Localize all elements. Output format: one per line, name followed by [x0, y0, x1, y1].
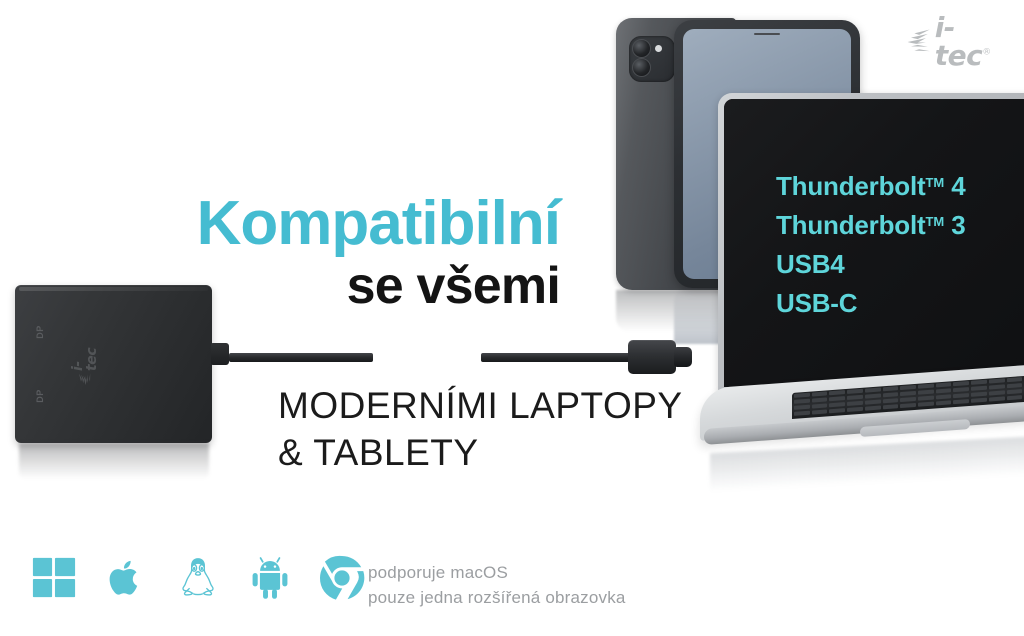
- keyboard-key: [971, 398, 987, 403]
- trademark-mark: TM: [925, 214, 944, 229]
- dock-cable-strain-relief: [211, 343, 229, 365]
- subheadline: MODERNÍMI LAPTOPY & TABLETY: [278, 382, 738, 477]
- usb-c-connector: [628, 340, 690, 374]
- keyboard-key: [812, 409, 828, 414]
- laptop-device: ThunderboltTM 4 ThunderboltTM 3 USB4 USB…: [700, 93, 1024, 493]
- spec-item-thunderbolt-4: ThunderboltTM 4: [776, 173, 966, 199]
- dock-port-label-dp-1: DP: [35, 325, 45, 339]
- spec-item-usb4: USB4: [776, 251, 966, 277]
- keyboard-key: [900, 403, 916, 408]
- tablet-speaker-icon: [754, 33, 780, 35]
- registered-mark-icon: ®: [982, 48, 991, 58]
- windows-icon: [28, 552, 80, 604]
- spec-item-usb-c: USB-C: [776, 290, 966, 316]
- usb-cable-right-segment: [481, 353, 634, 362]
- dock-brand-logo: i-tec: [54, 338, 116, 390]
- dock-brand-wordmark: i-tec: [71, 338, 99, 371]
- laptop-screen: ThunderboltTM 4 ThunderboltTM 3 USB4 USB…: [724, 99, 1024, 387]
- keyboard-key: [953, 399, 969, 404]
- apple-icon: [100, 552, 152, 604]
- camera-lens-icon: [632, 39, 651, 58]
- usb-c-connector-body: [628, 340, 676, 374]
- camera-lens-icon: [632, 58, 651, 77]
- keyboard-key: [883, 404, 899, 409]
- promo-banner: i-tec® ThunderboltTM 4 ThunderboltTM: [0, 0, 1024, 636]
- keyboard-key: [865, 405, 881, 410]
- itec-arrow-icon: [78, 373, 93, 390]
- dock-port-label-dp-2: DP: [35, 389, 45, 403]
- brand-wordmark: i-tec®: [935, 14, 1008, 70]
- usb-cable-left-segment: [229, 353, 373, 362]
- support-note: podporuje macOS pouze jedna rozšířená ob…: [368, 561, 626, 610]
- os-support-icon-strip: [28, 552, 368, 604]
- subheadline-line-2: & TABLETY: [278, 429, 738, 476]
- camera-flash-icon: [655, 45, 662, 52]
- keyboard-key: [936, 400, 952, 405]
- keyboard-key: [829, 408, 845, 413]
- subheadline-line-1: MODERNÍMI LAPTOPY: [278, 382, 738, 429]
- keyboard-key: [989, 396, 1005, 401]
- support-note-line-2: pouze jedna rozšířená obrazovka: [368, 586, 626, 611]
- spec-item-thunderbolt-3: ThunderboltTM 3: [776, 212, 966, 238]
- headline: Kompatibilní se všemi: [160, 193, 560, 314]
- android-icon: [244, 552, 296, 604]
- keyboard-key: [847, 407, 863, 412]
- keyboard-key: [1007, 395, 1023, 400]
- headline-line-2: se všemi: [160, 259, 560, 314]
- chrome-icon: [316, 552, 368, 604]
- laptop-lid: ThunderboltTM 4 ThunderboltTM 3 USB4 USB…: [718, 93, 1024, 393]
- itec-arrow-icon: [898, 27, 931, 57]
- tablet-camera-module: [629, 36, 675, 82]
- headline-line-1: Kompatibilní: [160, 193, 560, 255]
- linux-penguin-icon: [172, 552, 224, 604]
- brand-logo: i-tec®: [898, 22, 1008, 62]
- support-note-line-1: podporuje macOS: [368, 561, 626, 586]
- keyboard-key: [794, 411, 810, 416]
- compatibility-spec-list: ThunderboltTM 4 ThunderboltTM 3 USB4 USB…: [776, 173, 966, 316]
- usb-c-connector-tip: [674, 347, 692, 367]
- keyboard-key: [918, 402, 934, 407]
- dock-reflection: [19, 443, 209, 479]
- trademark-mark: TM: [925, 175, 944, 190]
